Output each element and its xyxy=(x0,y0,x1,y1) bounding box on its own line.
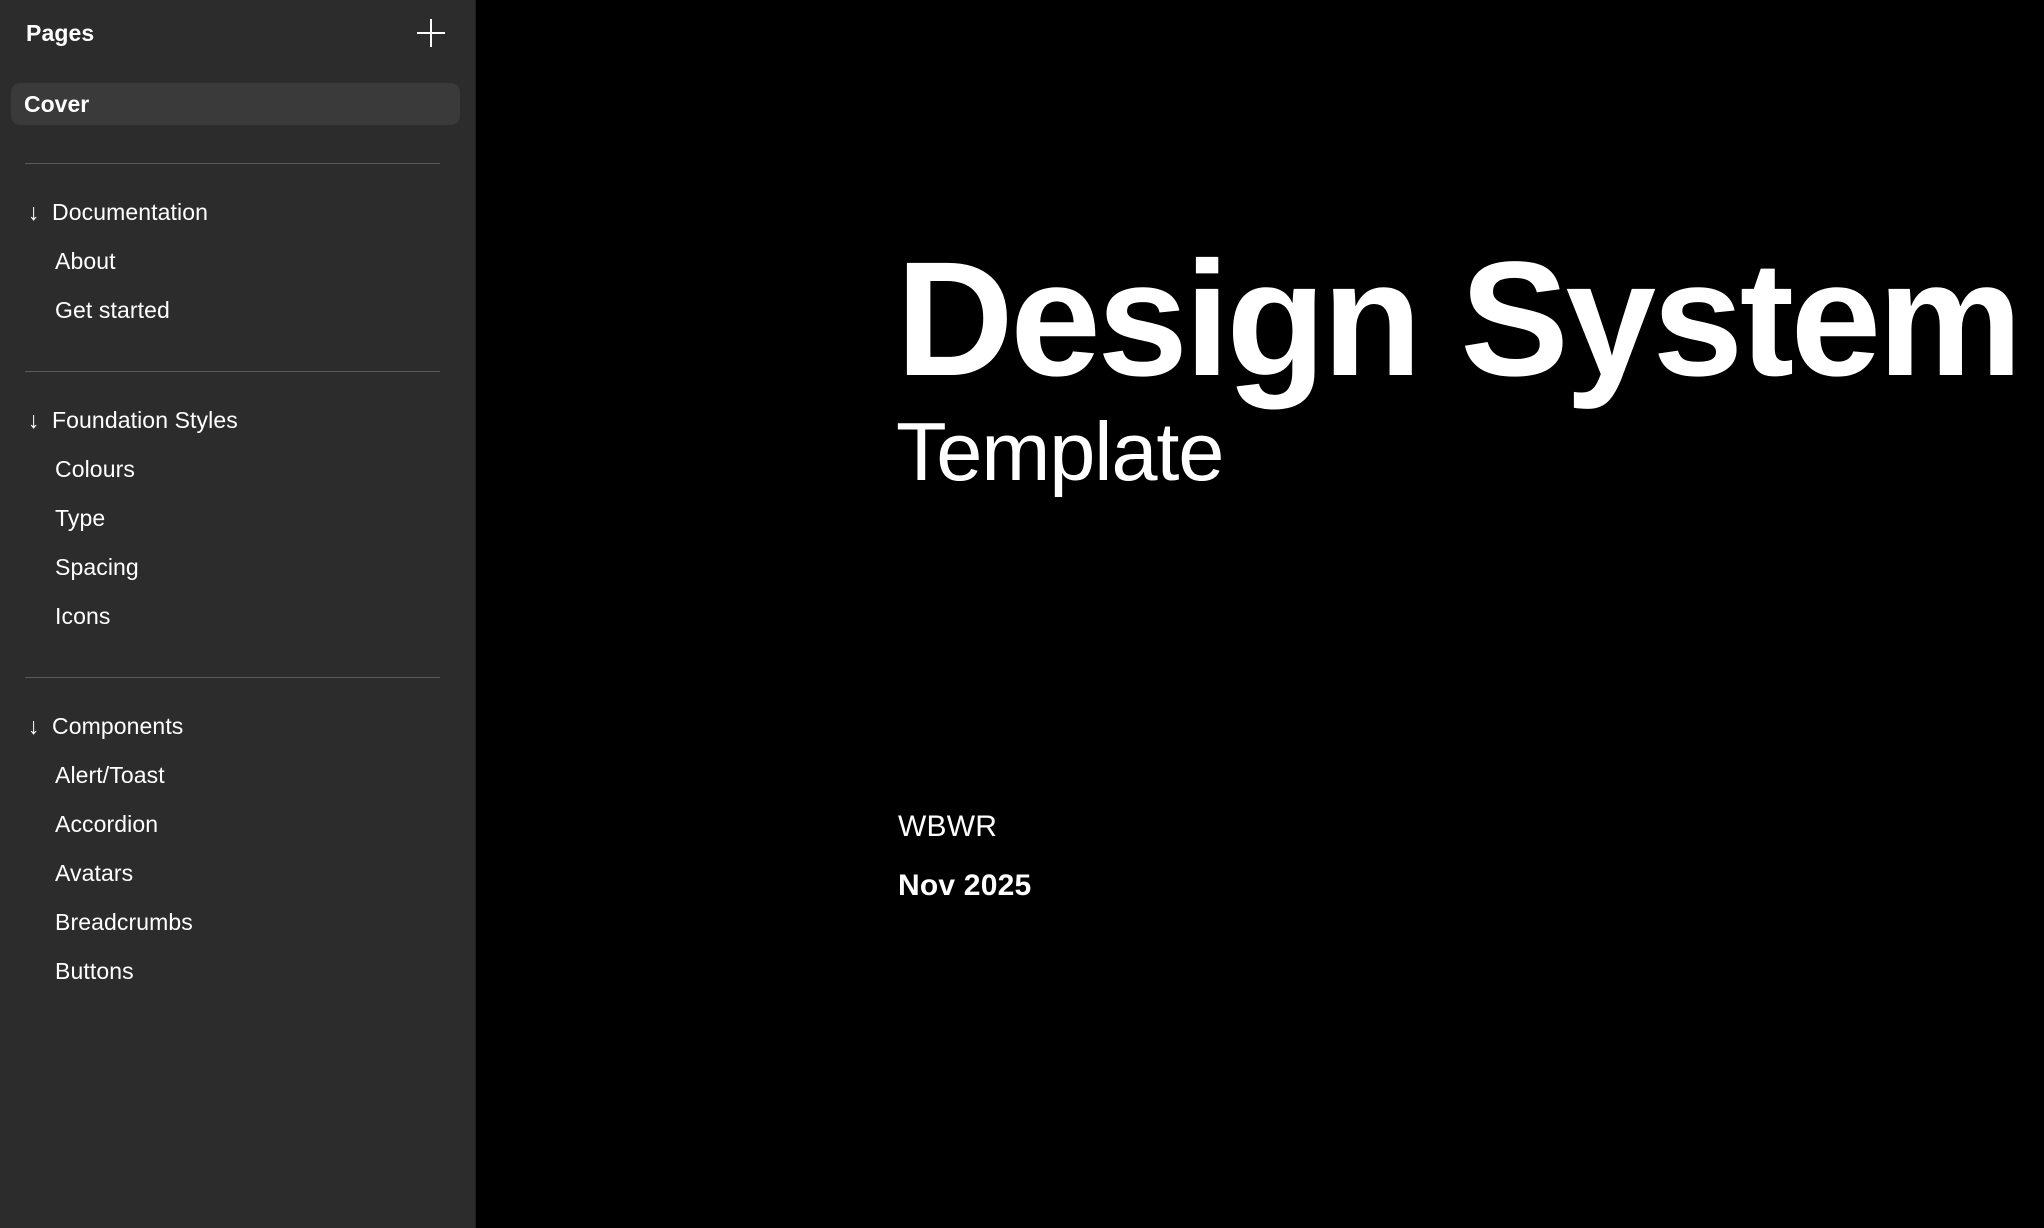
sidebar-group-documentation: ↓ Documentation About Get started xyxy=(0,196,476,332)
page-item-cover[interactable]: Cover xyxy=(11,83,460,125)
sidebar-item-about[interactable]: About xyxy=(0,245,476,277)
sidebar-item-buttons[interactable]: Buttons xyxy=(0,955,476,987)
sidebar-group-components: ↓ Components Alert/Toast Accordion Avata… xyxy=(0,710,476,993)
sidebar-item-label: Alert/Toast xyxy=(55,764,165,787)
sidebar-divider xyxy=(25,163,440,164)
pages-header: Pages xyxy=(0,0,476,66)
cover-meta: WBWR Nov 2025 xyxy=(898,812,1031,901)
sidebar-group-items: Alert/Toast Accordion Avatars Breadcrumb… xyxy=(0,759,476,993)
sidebar-item-label: Breadcrumbs xyxy=(55,911,193,934)
sidebar-item-alert-toast[interactable]: Alert/Toast xyxy=(0,759,476,791)
sidebar-item-accordion[interactable]: Accordion xyxy=(0,808,476,840)
sidebar-item-label: Accordion xyxy=(55,813,158,836)
sidebar-item-label: Get started xyxy=(55,299,170,322)
sidebar-item-label: Icons xyxy=(55,605,110,628)
sidebar-scroll-area[interactable]: Pages Cover ↓ Documentation About xyxy=(0,0,476,1228)
sidebar-group-label: Documentation xyxy=(52,201,208,224)
sidebar-group-items: Colours Type Spacing Icons xyxy=(0,453,476,638)
sidebar-item-label: Type xyxy=(55,507,105,530)
sidebar-group-header-documentation[interactable]: ↓ Documentation xyxy=(0,196,476,228)
sidebar-group-header-foundation-styles[interactable]: ↓ Foundation Styles xyxy=(0,404,476,436)
sidebar-item-get-started[interactable]: Get started xyxy=(0,294,476,326)
sidebar-item-avatars[interactable]: Avatars xyxy=(0,857,476,889)
cover-canvas: Design System Template WBWR Nov 2025 xyxy=(476,0,2044,1228)
sidebar-item-label: Spacing xyxy=(55,556,139,579)
sidebar-item-icons[interactable]: Icons xyxy=(0,600,476,632)
sidebar-group-items: About Get started xyxy=(0,245,476,332)
page-item-label: Cover xyxy=(24,93,89,116)
arrow-down-icon: ↓ xyxy=(25,409,42,432)
arrow-down-icon: ↓ xyxy=(25,715,42,738)
arrow-down-icon: ↓ xyxy=(25,201,42,224)
sidebar-group-header-components[interactable]: ↓ Components xyxy=(0,710,476,742)
sidebar-divider xyxy=(25,677,440,678)
sidebar-group-label: Components xyxy=(52,715,183,738)
sidebar-group-label: Foundation Styles xyxy=(52,409,238,432)
sidebar-item-label: Buttons xyxy=(55,960,134,983)
sidebar-item-label: Avatars xyxy=(55,862,133,885)
cover-title: Design System xyxy=(896,237,2019,400)
cover-author: WBWR xyxy=(898,812,1031,842)
sidebar-item-label: Colours xyxy=(55,458,135,481)
cover-date: Nov 2025 xyxy=(898,871,1031,901)
pages-panel-title: Pages xyxy=(26,22,94,45)
app-root: Pages Cover ↓ Documentation About xyxy=(0,0,2044,1228)
sidebar-divider xyxy=(25,371,440,372)
plus-icon-vertical xyxy=(430,19,433,47)
sidebar-item-label: About xyxy=(55,250,116,273)
sidebar-item-type[interactable]: Type xyxy=(0,502,476,534)
sidebar-group-foundation-styles: ↓ Foundation Styles Colours Type Spacing… xyxy=(0,404,476,638)
sidebar-item-breadcrumbs[interactable]: Breadcrumbs xyxy=(0,906,476,938)
cover-subtitle: Template xyxy=(896,410,1223,493)
sidebar-item-colours[interactable]: Colours xyxy=(0,453,476,485)
pages-sidebar: Pages Cover ↓ Documentation About xyxy=(0,0,476,1228)
sidebar-item-spacing[interactable]: Spacing xyxy=(0,551,476,583)
add-page-button[interactable] xyxy=(414,16,448,50)
